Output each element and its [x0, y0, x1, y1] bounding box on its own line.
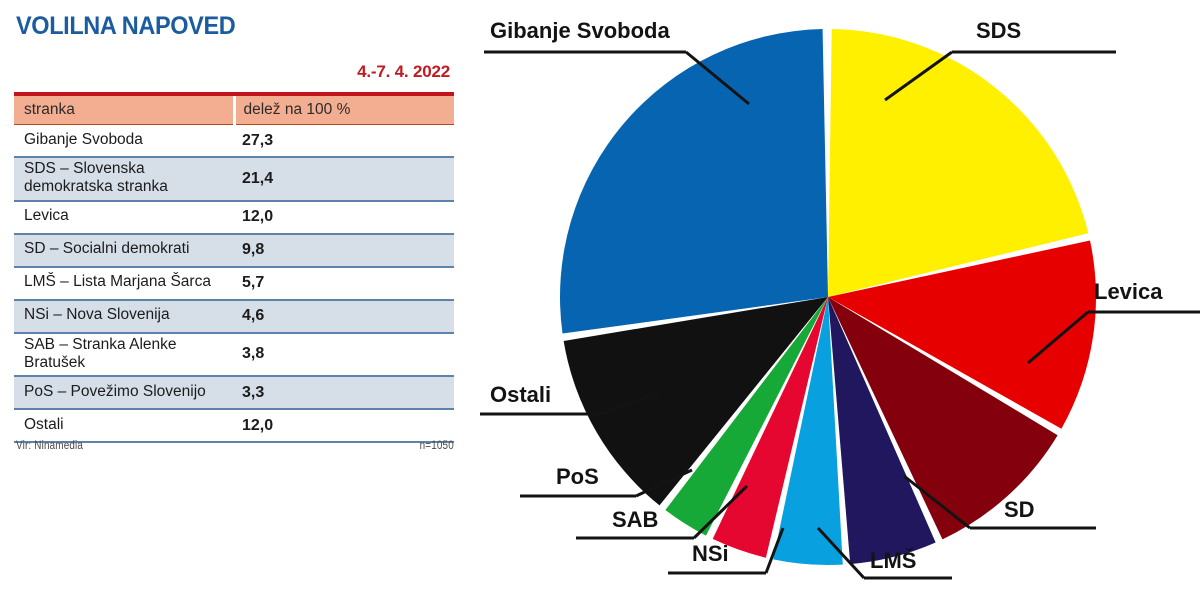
cell-party-name: SDS – Slovenska demokratska stranka [14, 157, 234, 201]
cell-party-share: 9,8 [234, 234, 454, 267]
pie-slice [560, 29, 828, 334]
cell-party-name: LMŠ – Lista Marjana Šarca [14, 267, 234, 300]
cell-party-name: NSi – Nova Slovenija [14, 300, 234, 333]
pie-chart-panel: Gibanje SvobodaSDSLevicaSDLMŠNSiSABPoSOs… [470, 0, 1200, 593]
column-header-share: delež na 100 % [234, 94, 454, 125]
pie-slice-label: LMŠ [870, 548, 916, 573]
table-head: stranka delež na 100 % [14, 94, 454, 125]
infographic-root: VOLILNA NAPOVED 4.-7. 4. 2022 stranka de… [0, 0, 1200, 593]
pie-chart: Gibanje SvobodaSDSLevicaSDLMŠNSiSABPoSOs… [470, 0, 1200, 593]
pie-slice-label: PoS [556, 464, 599, 489]
table-body: Gibanje Svoboda27,3SDS – Slovenska demok… [14, 125, 454, 443]
pie-slice-label: Ostali [490, 382, 551, 407]
table-header-row: stranka delež na 100 % [14, 94, 454, 125]
table-row: Ostali12,0 [14, 409, 454, 442]
pie-slice-group [560, 29, 1096, 565]
source-label: Vir: Ninamedia [16, 440, 83, 452]
poll-results-table: stranka delež na 100 % Gibanje Svoboda27… [14, 92, 454, 443]
pie-slice-label: NSi [692, 541, 729, 566]
cell-party-name: SAB – Stranka Alenke Bratušek [14, 333, 234, 377]
table-row: SAB – Stranka Alenke Bratušek3,8 [14, 333, 454, 377]
cell-party-name: Gibanje Svoboda [14, 125, 234, 158]
cell-party-name: PoS – Povežimo Slovenijo [14, 376, 234, 409]
table-row: Levica12,0 [14, 201, 454, 234]
cell-party-share: 3,8 [234, 333, 454, 377]
table-row: Gibanje Svoboda27,3 [14, 125, 454, 158]
table-row: PoS – Povežimo Slovenijo3,3 [14, 376, 454, 409]
pie-slice-label: SAB [612, 507, 658, 532]
poll-table-panel: VOLILNA NAPOVED 4.-7. 4. 2022 stranka de… [0, 0, 470, 593]
page-title: VOLILNA NAPOVED [16, 12, 235, 41]
table-row: SDS – Slovenska demokratska stranka21,4 [14, 157, 454, 201]
cell-party-share: 27,3 [234, 125, 454, 158]
pie-slice-label: SDS [976, 18, 1021, 43]
cell-party-share: 21,4 [234, 157, 454, 201]
cell-party-name: Ostali [14, 409, 234, 442]
pie-slice-label: SD [1004, 497, 1035, 522]
column-header-party: stranka [14, 94, 234, 125]
cell-party-share: 5,7 [234, 267, 454, 300]
cell-party-share: 12,0 [234, 201, 454, 234]
sample-size-label: n=1050 [420, 440, 454, 452]
table-row: LMŠ – Lista Marjana Šarca5,7 [14, 267, 454, 300]
cell-party-share: 4,6 [234, 300, 454, 333]
cell-party-share: 3,3 [234, 376, 454, 409]
table-row: NSi – Nova Slovenija4,6 [14, 300, 454, 333]
cell-party-share: 12,0 [234, 409, 454, 442]
cell-party-name: Levica [14, 201, 234, 234]
table-footnote: Vir: Ninamedia n=1050 [16, 440, 454, 452]
survey-date-label: 4.-7. 4. 2022 [357, 62, 450, 82]
pie-slice-label: Levica [1094, 279, 1163, 304]
pie-slice-label: Gibanje Svoboda [490, 18, 670, 43]
cell-party-name: SD – Socialni demokrati [14, 234, 234, 267]
table-row: SD – Socialni demokrati9,8 [14, 234, 454, 267]
